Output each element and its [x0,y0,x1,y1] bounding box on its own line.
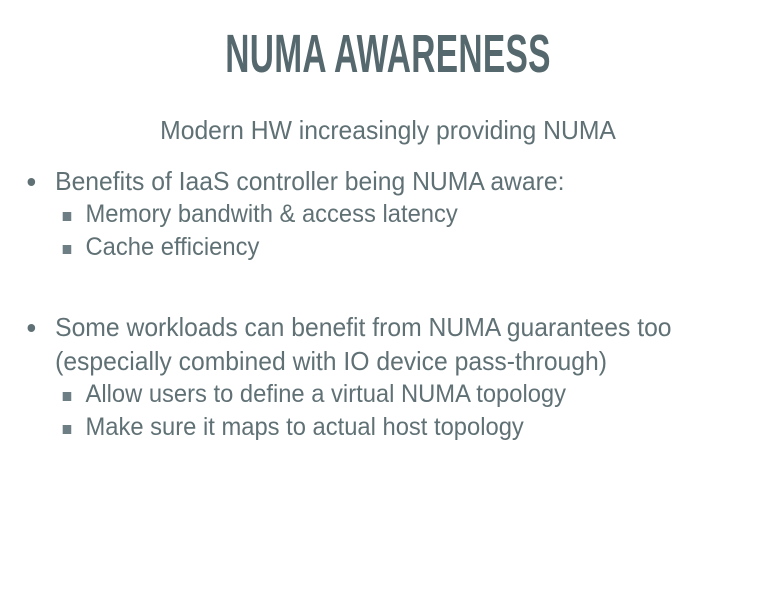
bullet-level1-text: Some workloads can benefit from NUMA gua… [55,312,671,376]
bullet-level1-text: Benefits of IaaS controller being NUMA a… [55,166,564,196]
bullet-level1: Benefits of IaaS controller being NUMA a… [0,164,737,198]
presentation-slide: NUMA AWARENESS Modern HW increasingly pr… [0,0,776,600]
bullet-level2-text: Cache efficiency [86,233,260,261]
bullet-level1: Some workloads can benefit from NUMA gua… [0,310,737,378]
bullet-level2-text: Memory bandwith & access latency [86,200,458,228]
bullet-group-1: Benefits of IaaS controller being NUMA a… [0,164,776,264]
square-bullet-icon [63,245,72,254]
bullet-level2: Make sure it maps to actual host topolog… [0,411,737,444]
bullet-level2-text: Allow users to define a virtual NUMA top… [86,380,567,408]
bullet-group-2: Some workloads can benefit from NUMA gua… [0,310,776,444]
square-bullet-icon [63,425,72,434]
bullet-group-spacer [0,264,776,310]
round-bullet-icon [28,324,36,332]
round-bullet-icon [28,178,36,186]
bullet-level2-text: Make sure it maps to actual host topolog… [86,413,524,441]
slide-title: NUMA AWARENESS [147,24,628,84]
square-bullet-icon [63,392,72,401]
square-bullet-icon [63,212,72,221]
bullet-level2: Allow users to define a virtual NUMA top… [0,378,737,411]
slide-body: Benefits of IaaS controller being NUMA a… [0,164,776,444]
slide-subtitle: Modern HW increasingly providing NUMA [19,114,756,146]
bullet-level2: Memory bandwith & access latency [0,198,737,231]
bullet-level2: Cache efficiency [0,231,737,264]
